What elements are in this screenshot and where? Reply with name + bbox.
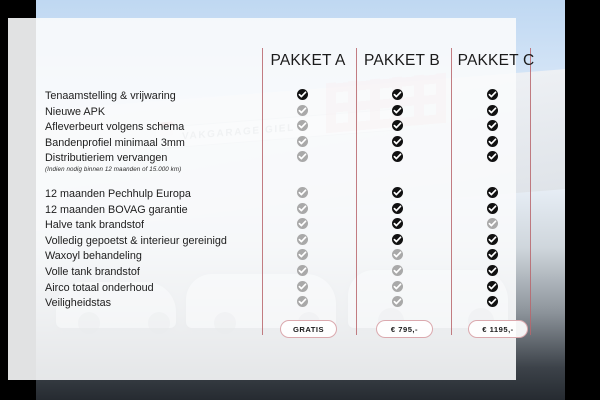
check-included-icon <box>392 203 403 214</box>
column-divider <box>530 48 531 335</box>
price-button-c[interactable]: € 1195,- <box>468 320 528 338</box>
check-included-icon <box>487 203 498 214</box>
check-excluded-icon <box>297 218 308 229</box>
check-included-icon <box>487 265 498 276</box>
check-excluded-icon <box>297 120 308 131</box>
check-excluded-icon <box>297 203 308 214</box>
column-header-b: PAKKET B <box>358 52 446 70</box>
feature-label: Halve tank brandstof <box>45 219 144 231</box>
feature-label: 12 maanden Pechhulp Europa <box>45 188 191 200</box>
column-divider <box>262 48 263 335</box>
feature-label: Volle tank brandstof <box>45 266 140 278</box>
check-included-icon <box>392 136 403 147</box>
check-included-icon <box>392 120 403 131</box>
check-excluded-icon <box>297 265 308 276</box>
check-excluded-icon <box>297 151 308 162</box>
column-divider <box>356 48 357 335</box>
feature-label: Distributieriem vervangen <box>45 152 167 164</box>
check-included-icon <box>392 105 403 116</box>
check-included-icon <box>487 296 498 307</box>
check-included-icon <box>487 89 498 100</box>
feature-label: Bandenprofiel minimaal 3mm <box>45 137 185 149</box>
check-excluded-icon <box>392 281 403 292</box>
feature-label: Veiligheidstas <box>45 297 111 309</box>
feature-label: Volledig gepoetst & interieur gereinigd <box>45 235 227 247</box>
check-excluded-icon <box>297 234 308 245</box>
check-excluded-icon <box>392 249 403 260</box>
check-excluded-icon <box>297 136 308 147</box>
footnote: (Indien nodig binnen 12 maanden of 15.00… <box>45 166 181 173</box>
check-excluded-icon <box>297 105 308 116</box>
check-included-icon <box>392 187 403 198</box>
check-excluded-icon <box>392 265 403 276</box>
feature-label: Waxoyl behandeling <box>45 250 142 262</box>
price-button-a[interactable]: GRATIS <box>280 320 337 338</box>
video-frame: VAKGARAGE GIEL PAKKET A PAKKET B PAKKET … <box>0 0 600 400</box>
check-included-icon <box>487 187 498 198</box>
check-excluded-icon <box>297 249 308 260</box>
feature-label: Tenaamstelling & vrijwaring <box>45 90 176 102</box>
feature-label: 12 maanden BOVAG garantie <box>45 204 188 216</box>
check-excluded-icon <box>297 296 308 307</box>
feature-label: Nieuwe APK <box>45 106 105 118</box>
check-included-icon <box>487 249 498 260</box>
check-included-icon <box>487 136 498 147</box>
check-included-icon <box>392 151 403 162</box>
check-excluded-icon <box>297 187 308 198</box>
check-included-icon <box>487 151 498 162</box>
check-included-icon <box>487 105 498 116</box>
check-included-icon <box>487 120 498 131</box>
check-included-icon <box>297 89 308 100</box>
check-excluded-icon <box>392 296 403 307</box>
column-divider <box>451 48 452 335</box>
check-included-icon <box>392 234 403 245</box>
price-button-b[interactable]: € 795,- <box>376 320 433 338</box>
feature-label: Airco totaal onderhoud <box>45 282 154 294</box>
check-excluded-icon <box>487 218 498 229</box>
check-included-icon <box>392 218 403 229</box>
check-included-icon <box>392 89 403 100</box>
check-excluded-icon <box>297 281 308 292</box>
feature-label: Afleverbeurt volgens schema <box>45 121 184 133</box>
column-header-a: PAKKET A <box>264 52 352 70</box>
check-included-icon <box>487 234 498 245</box>
check-included-icon <box>487 281 498 292</box>
column-header-c: PAKKET C <box>452 52 540 70</box>
